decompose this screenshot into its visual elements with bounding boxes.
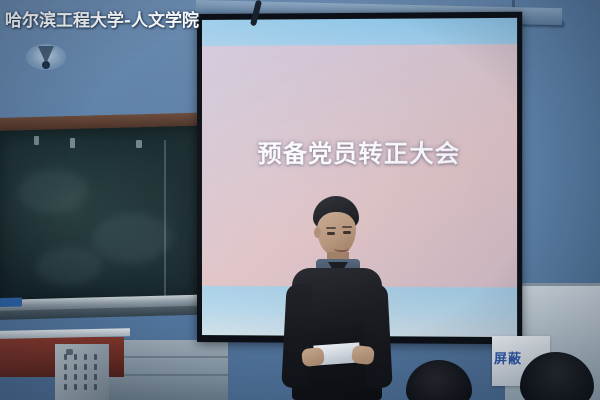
slide-band-top xyxy=(202,18,517,46)
presenter-arm-right xyxy=(361,283,392,388)
presenter-eye xyxy=(327,232,335,235)
light-bulb xyxy=(42,61,50,69)
chalk-smudge xyxy=(36,246,102,286)
right-wall xyxy=(516,0,600,300)
watermark-text: 哈尔滨工程大学-人文学院 xyxy=(5,6,199,31)
presenter-arm-left xyxy=(281,283,312,388)
slide-title: 预备党员转正大会 xyxy=(202,133,517,169)
presenter-hand-left xyxy=(301,347,325,367)
classroom-photo: 预备党员转正大会 屏蔽 哈尔滨工程大学-人文学院 xyxy=(0,0,600,400)
chalk-smudge xyxy=(92,212,172,264)
cabinet-grill xyxy=(62,352,104,396)
presenter-figure xyxy=(270,196,400,400)
presenter-eye xyxy=(343,231,351,234)
chalkboard-eraser xyxy=(0,297,22,307)
presenter-hand-right xyxy=(351,345,375,366)
chalkboard-divider xyxy=(164,140,166,300)
presenter-eyebrow xyxy=(326,227,336,229)
wall-light-icon xyxy=(26,44,66,70)
chalk-smudge xyxy=(18,169,88,215)
board-clip xyxy=(34,136,39,145)
floor-step-line xyxy=(108,374,228,376)
chalkboard-surface xyxy=(0,126,204,309)
presenter-ear xyxy=(314,227,321,238)
board-clip xyxy=(70,138,75,148)
chalkboard xyxy=(0,118,204,326)
floor-step-line xyxy=(108,356,228,358)
presenter-eyebrow xyxy=(342,226,352,228)
floor-area xyxy=(108,340,228,400)
board-clip xyxy=(136,140,142,148)
